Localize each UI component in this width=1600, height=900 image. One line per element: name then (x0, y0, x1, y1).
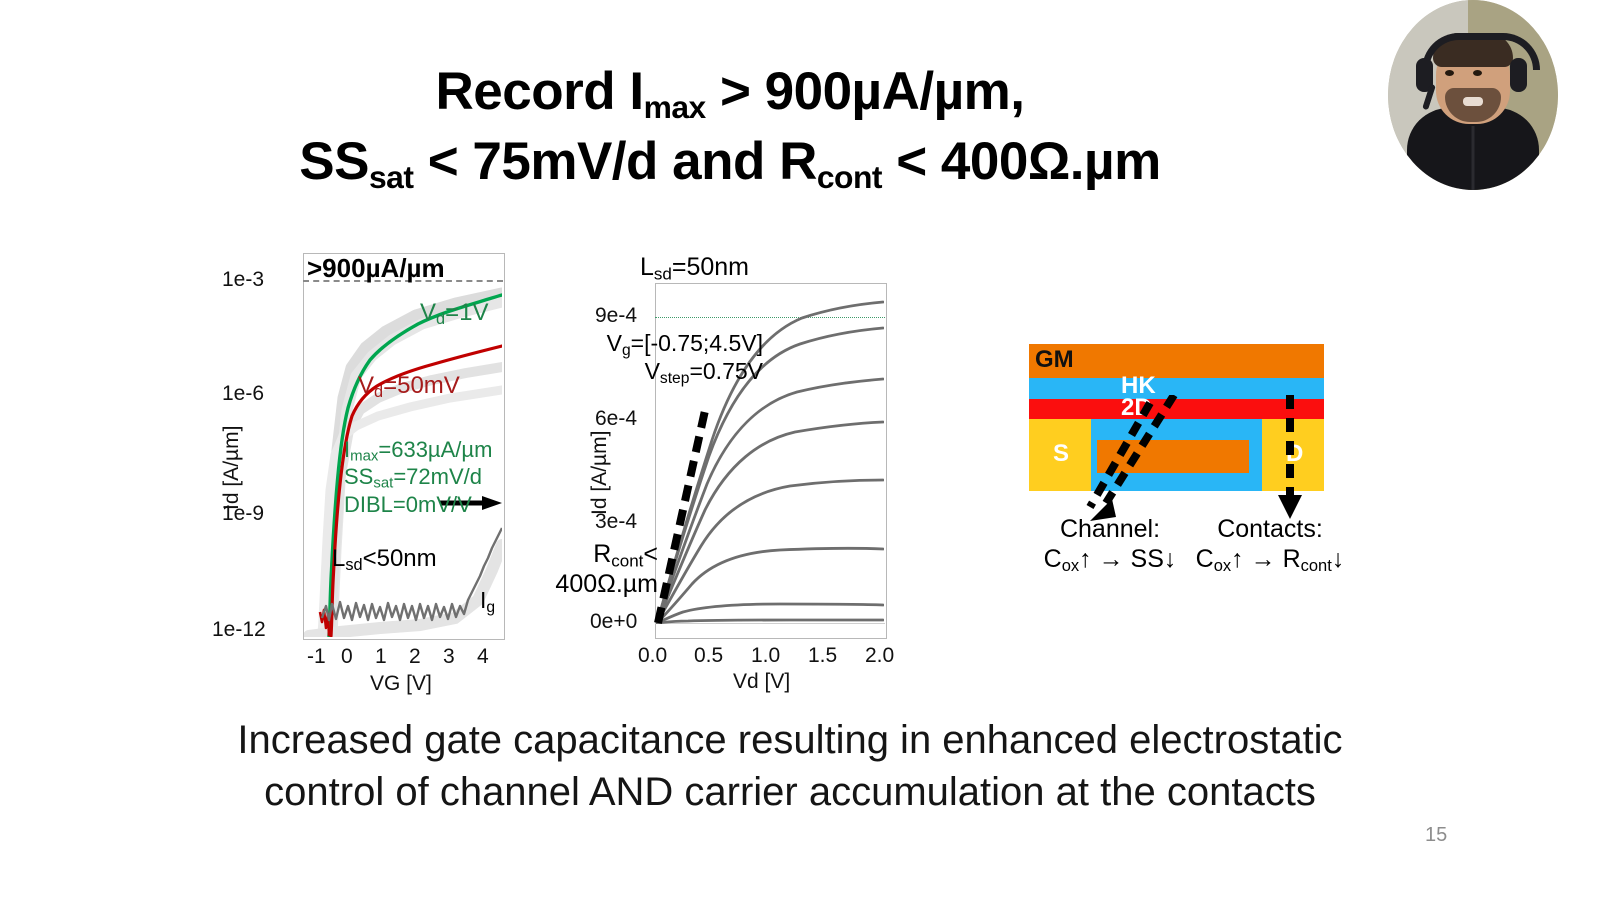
imax-sub: max (350, 448, 378, 465)
vd50-sub: d (374, 383, 383, 401)
title-line-1: Record Imax > 900µA/µm, (140, 58, 1320, 128)
cox-l-sub: ox (1062, 557, 1079, 575)
sssat-post: =72mV/d (393, 464, 482, 489)
presenter-mouth (1463, 97, 1483, 106)
device-callout-left-formula: Cox↑ → SS↓ (1035, 545, 1185, 577)
vg-post: =[-0.75;4.5V] (631, 330, 763, 356)
device-callout-left-title: Channel: (1035, 515, 1185, 545)
lsd-pre: L (332, 545, 345, 572)
transfer-curve-chart: 1e-3 1e-6 1e-9 1e-12 -1 0 1 2 3 4 VG [V]… (210, 240, 540, 700)
vd1v-sub: d (436, 310, 445, 328)
device-callout-left: Channel: Cox↑ → SS↓ (1035, 515, 1185, 576)
title-l1-post: > 900µA/µm, (706, 62, 1025, 121)
presenter-eye-left (1445, 70, 1454, 76)
presentation-slide: Record Imax > 900µA/µm, SSsat < 75mV/d a… (0, 0, 1600, 900)
cox-r-sub2: cont (1301, 557, 1332, 575)
device-callout-right-title: Contacts: (1180, 515, 1360, 545)
slide-title: Record Imax > 900µA/µm, SSsat < 75mV/d a… (140, 58, 1320, 197)
chart1-imax-line: Imax=633µA/µm (344, 438, 492, 465)
vd1v-post: =1V (445, 299, 488, 326)
chart2-rcont-block: Rcont< 400Ω.µm (548, 540, 658, 598)
chart2-vg-range-line: Vg=[-0.75;4.5V] (567, 331, 763, 359)
chart2-vg-range-block: Vg=[-0.75;4.5V] Vstep=0.75V (567, 331, 763, 388)
chart2-rcont-line2: 400Ω.µm (533, 570, 658, 598)
title-l1-pre: Record I (436, 62, 644, 121)
vstep-post: =0.75V (689, 358, 763, 384)
vstep-pre: V (645, 358, 660, 384)
lsd-sub: sd (345, 556, 362, 574)
rcont-sub: cont (611, 551, 643, 570)
chart1-sssat-line: SSsat=72mV/d (344, 465, 492, 492)
title-l2-mid: < 75mV/d and R (413, 132, 816, 191)
cox-r-mid: ↑ → R (1231, 545, 1300, 573)
device-callout-arrows (1020, 395, 1350, 530)
headset-earcup-right-icon (1510, 58, 1527, 92)
cox-r-sub: ox (1214, 557, 1231, 575)
rcont-pre: R (593, 540, 611, 568)
vd1v-pre: V (420, 299, 436, 326)
chart2-curves (540, 240, 920, 700)
device-callout-right: Contacts: Cox↑ → Rcont↓ (1180, 515, 1360, 576)
chart1-lsd-label: Lsd<50nm (332, 546, 437, 574)
chart1-vd50mv-label: Vd=50mV (358, 373, 460, 401)
slide-bottom-caption: Increased gate capacitance resulting in … (150, 714, 1430, 818)
chart2-vstep-line: Vstep=0.75V (567, 359, 763, 387)
sssat-pre: SS (344, 464, 373, 489)
device-label-gm: GM (1035, 346, 1074, 374)
bottom-caption-line-2: control of channel AND carrier accumulat… (150, 766, 1430, 818)
bottom-caption-line-1: Increased gate capacitance resulting in … (150, 714, 1430, 766)
cox-r-post: ↓ (1332, 545, 1345, 573)
ig-sub: g (486, 599, 495, 616)
vd50-post: =50mV (383, 372, 460, 399)
chart1-dibl-line: DIBL=0mV/V (344, 493, 492, 518)
output-curve-chart: Lsd=50nm 9e-4 6e-4 3e-4 0e+0 0.0 0.5 1.0… (540, 240, 920, 700)
cox-l-post: ↑ → SS↓ (1079, 545, 1176, 573)
title-line-2: SSsat < 75mV/d and Rcont < 400Ω.µm (140, 128, 1320, 198)
lsd-post: <50nm (363, 545, 437, 572)
chart1-metrics-block: Imax=633µA/µm SSsat=72mV/d DIBL=0mV/V (344, 438, 492, 518)
chart1-ig-label: Ig (480, 588, 495, 616)
presenter-webcam-bubble[interactable] (1388, 0, 1558, 190)
chart2-rcont-line1: Rcont< (548, 540, 658, 570)
title-l1-sub: max (644, 89, 706, 125)
title-l2-post: < 400Ω.µm (882, 132, 1161, 191)
rcont-post: < (643, 540, 658, 568)
vstep-sub: step (660, 370, 690, 387)
cox-l-pre: C (1044, 545, 1062, 573)
cox-r-pre: C (1196, 545, 1214, 573)
chart1-top-annotation: >900µA/µm (307, 254, 445, 283)
imax-post: =633µA/µm (378, 437, 492, 462)
vd50-pre: V (358, 372, 374, 399)
sssat-sub: sat (373, 475, 393, 492)
presenter-eye-right (1473, 70, 1482, 76)
title-l2-sub2: cont (817, 158, 882, 194)
shirt-placket (1472, 126, 1475, 190)
slide-page-number: 15 (1425, 824, 1447, 847)
chart1-vd1v-label: Vd=1V (420, 300, 488, 328)
vg-sub: g (622, 342, 631, 359)
vg-pre: V (607, 330, 622, 356)
title-l2-sub: sat (369, 158, 413, 194)
title-l2-pre: SS (299, 132, 369, 191)
device-callout-right-formula: Cox↑ → Rcont↓ (1180, 545, 1360, 577)
chart2-load-line (658, 406, 706, 623)
